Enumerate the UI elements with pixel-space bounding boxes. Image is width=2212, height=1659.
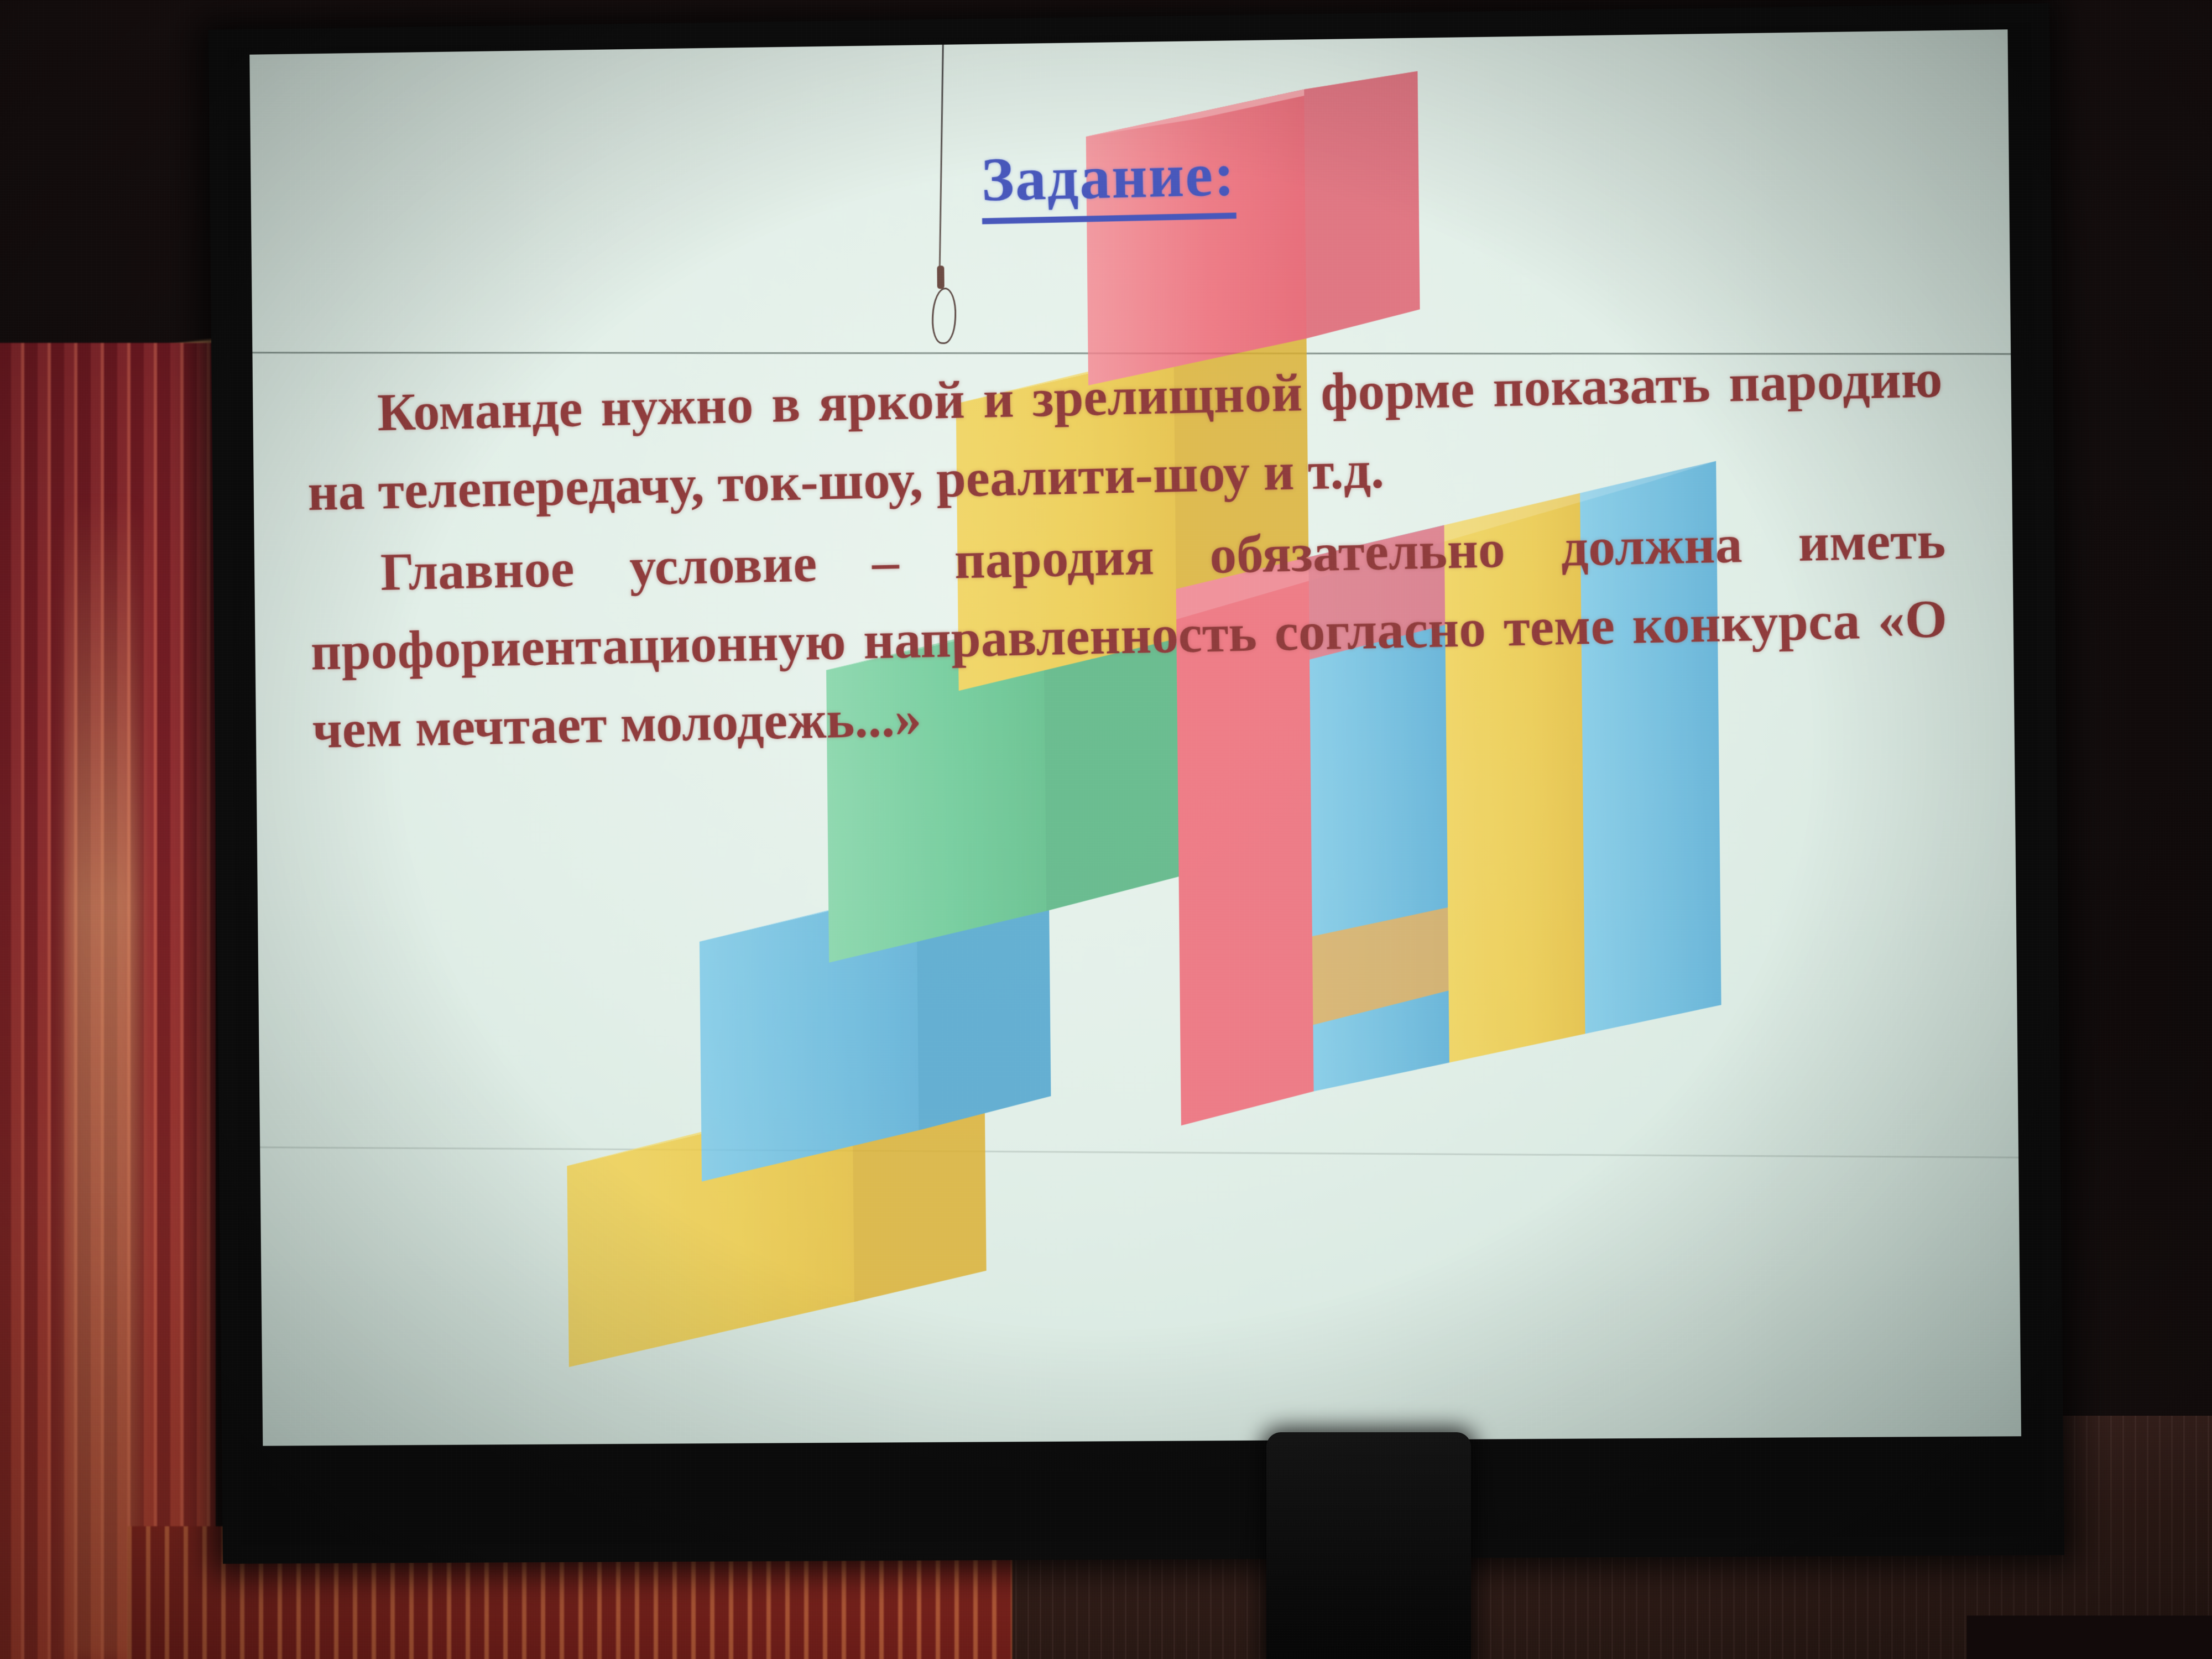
slide-paragraph-1: Команде нужно в яркой и зрелищной форме …	[305, 340, 1944, 531]
cord-bead	[937, 265, 944, 289]
slide-content: Задание: Команде нужно в яркой и зрелищн…	[249, 29, 2021, 1446]
slide-paragraph-2: Главное условие – пародия обязательно до…	[309, 500, 1949, 769]
curtain-highlight	[66, 498, 138, 1659]
projection-screen-surface: Задание: Команде нужно в яркой и зрелищн…	[249, 29, 2021, 1446]
projection-screen-frame: Задание: Команде нужно в яркой и зрелищн…	[208, 3, 2064, 1564]
slide-title: Задание:	[980, 139, 1236, 224]
slide-body: Команде нужно в яркой и зрелищной форме …	[305, 340, 1949, 769]
photo-scene: Задание: Команде нужно в яркой и зрелищн…	[0, 0, 2212, 1659]
speaker-cabinet	[1266, 1432, 1471, 1659]
